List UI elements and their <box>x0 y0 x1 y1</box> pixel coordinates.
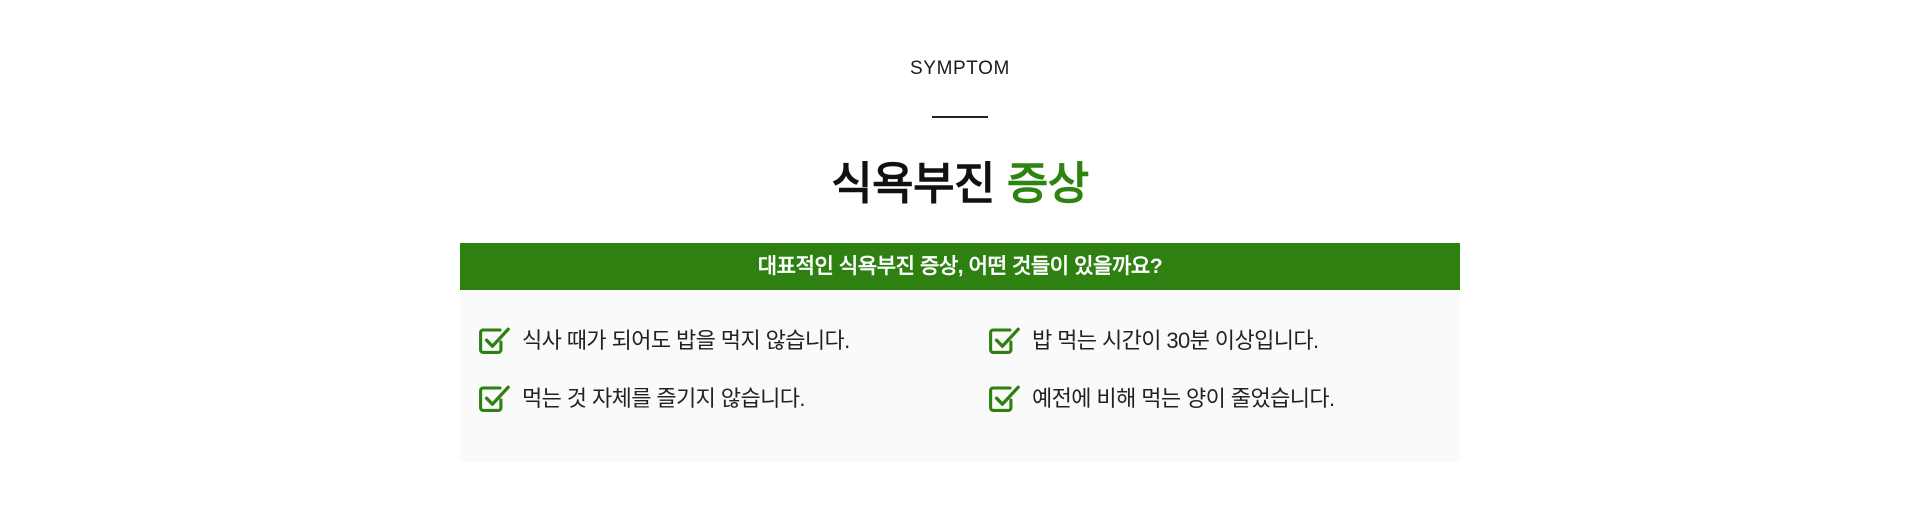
page-title-accent: 증상 <box>1007 158 1089 209</box>
list-item: 예전에 비해 먹는 양이 줄었습니다. <box>960 370 1460 428</box>
check-square-icon <box>478 384 512 414</box>
list-item: 식사 때가 되어도 밥을 먹지 않습니다. <box>460 312 960 370</box>
list-item-label: 예전에 비해 먹는 양이 줄었습니다. <box>1032 386 1335 412</box>
symptom-section: SYMPTOM 식욕부진 증상 대표적인 식욕부진 증상, 어떤 것들이 있을까… <box>0 0 1920 526</box>
page-title-main: 식욕부진 <box>831 158 995 209</box>
list-item: 먹는 것 자체를 즐기지 않습니다. <box>460 370 960 428</box>
symptom-panel-banner-text: 대표적인 식욕부진 증상, 어떤 것들이 있을까요? <box>758 256 1163 277</box>
check-square-icon <box>988 384 1022 414</box>
list-item-label: 밥 먹는 시간이 30분 이상입니다. <box>1032 328 1319 354</box>
symptom-panel-banner: 대표적인 식욕부진 증상, 어떤 것들이 있을까요? <box>460 243 1460 290</box>
check-square-icon <box>478 326 512 356</box>
section-eyebrow: SYMPTOM <box>0 58 1920 81</box>
check-square-icon <box>988 326 1022 356</box>
page-title: 식욕부진 증상 <box>0 156 1920 212</box>
title-divider <box>932 116 988 118</box>
list-item: 밥 먹는 시간이 30분 이상입니다. <box>960 312 1460 370</box>
list-item-label: 식사 때가 되어도 밥을 먹지 않습니다. <box>522 328 850 354</box>
symptom-panel: 대표적인 식욕부진 증상, 어떤 것들이 있을까요? 식사 때가 되어도 밥을 … <box>460 243 1460 462</box>
symptom-list: 식사 때가 되어도 밥을 먹지 않습니다. 밥 먹는 시간이 30분 이상입니다… <box>460 290 1460 462</box>
list-item-label: 먹는 것 자체를 즐기지 않습니다. <box>522 386 805 412</box>
